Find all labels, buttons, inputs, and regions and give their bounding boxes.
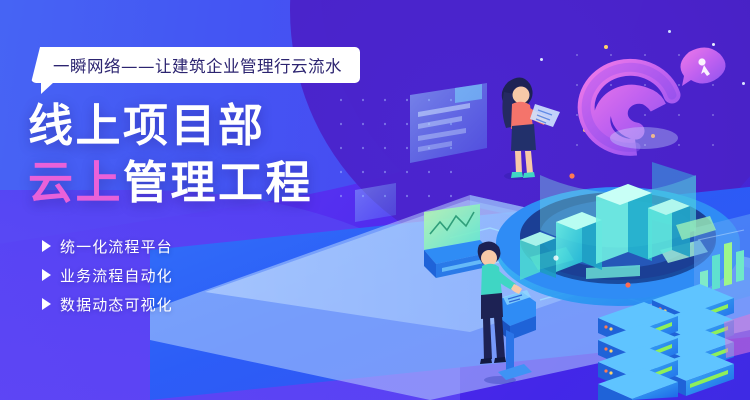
spark-dot [668, 30, 671, 33]
subtitle-tag-body: 一瞬网络——让建筑企业管理行云流水 [31, 47, 360, 83]
spark-dot [651, 134, 655, 138]
promo-banner: 一瞬网络——让建筑企业管理行云流水 线上项目部 云上管理工程 统一化流程平台 业… [0, 0, 750, 400]
headline-line-2-rest: 管理工程 [123, 156, 313, 209]
list-item: 业务流程自动化 [42, 263, 173, 287]
spark-dot [712, 43, 715, 46]
list-item-label: 统一化流程平台 [60, 236, 173, 257]
background-dot-grid [330, 88, 470, 206]
list-item-label: 业务流程自动化 [60, 265, 173, 286]
triangle-right-icon [42, 298, 51, 310]
list-item: 数据动态可视化 [42, 292, 173, 316]
headline-line-1: 线上项目部 [28, 98, 313, 155]
spark-dot [540, 58, 543, 61]
spark-dot [742, 82, 745, 85]
subtitle-tag: 一瞬网络——让建筑企业管理行云流水 [31, 47, 360, 83]
headline-accent: 云上 [28, 156, 123, 209]
subtitle-tag-label: 一瞬网络——让建筑企业管理行云流水 [53, 53, 342, 77]
triangle-right-icon [42, 240, 51, 252]
list-item-label: 数据动态可视化 [60, 294, 173, 315]
page-title: 线上项目部 云上管理工程 [28, 98, 313, 211]
list-item: 统一化流程平台 [42, 234, 173, 258]
triangle-right-icon [42, 269, 51, 281]
spark-dot [583, 128, 587, 132]
subtitle-tag-tail [41, 82, 54, 94]
headline-line-2: 云上管理工程 [28, 155, 313, 212]
spark-dot [604, 45, 608, 49]
feature-bullet-list: 统一化流程平台 业务流程自动化 数据动态可视化 [42, 234, 173, 321]
background-dot-grid-secondary [560, 40, 730, 150]
